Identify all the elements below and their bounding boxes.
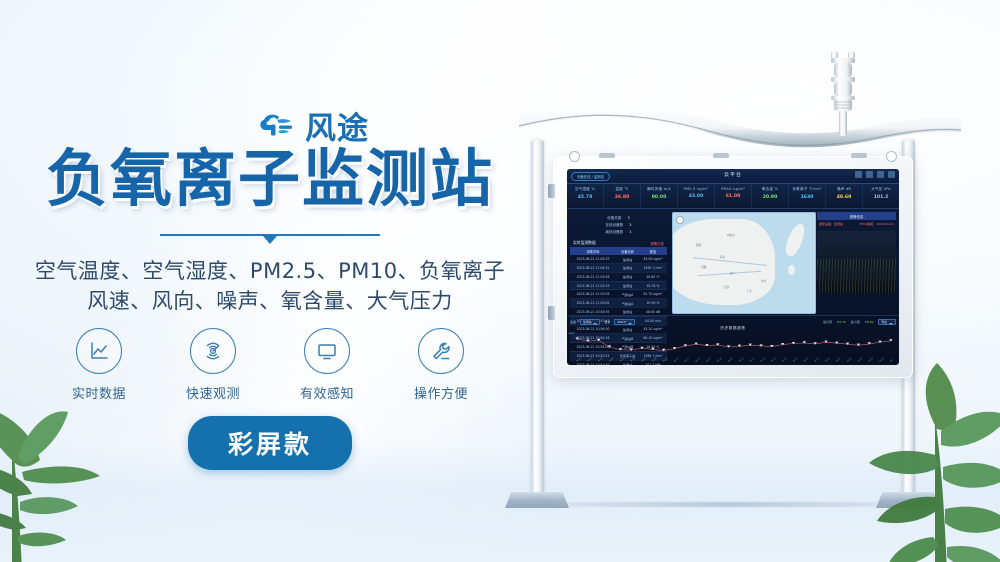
- table-row[interactable]: 2023-06-21 11:03:28监测站26.80 ℃: [570, 272, 667, 281]
- page-title: 负氧离子监测站: [0, 148, 540, 210]
- line-chart-icon: [76, 328, 122, 374]
- chart-xtick: 06-18: [760, 357, 766, 362]
- dashboard-body: 设备总数3在线设备数2离线设备数1 实时监测数据 报警记录 采集时间设备名称数值…: [567, 209, 899, 315]
- mount-tab: [713, 153, 729, 158]
- kpi-label: PM10 ug/m³: [715, 187, 751, 191]
- table-cell: 1630 个/cm³: [639, 264, 667, 273]
- table-cell: 监测站: [616, 272, 639, 281]
- dashboard-screen[interactable]: 设备在线 / 监测站 云平台 空气湿度 %45.78温度 ℃26.80瞬时风速 …: [567, 169, 899, 365]
- left-pane: 设备总数3在线设备数2离线设备数1 实时监测数据 报警记录 采集时间设备名称数值…: [567, 209, 670, 315]
- feature-label: 快速观测: [174, 383, 252, 402]
- table-row[interactable]: 2023-06-21 11:05:37监测站43.00 ug/m³: [570, 255, 667, 263]
- cloud-icon[interactable]: [866, 171, 873, 178]
- alarm-panel-header: 报警信息: [817, 212, 896, 220]
- monitor-screen-icon: [304, 328, 350, 374]
- table-cell: 监测站: [616, 281, 639, 290]
- kpi-value: 26.80: [604, 195, 640, 200]
- settings-icon[interactable]: [888, 171, 895, 178]
- chart-xtick: 06-19: [771, 357, 777, 362]
- table-cell: 监测站: [616, 255, 639, 263]
- table-row[interactable]: 2023-06-21 11:00:02气象站A20.90 %: [570, 299, 667, 308]
- chart-icon[interactable]: [877, 171, 884, 178]
- support-post-left: [531, 140, 544, 500]
- chart-legend-max: 最大值: [823, 320, 832, 324]
- table-cell: 2023-06-21 11:03:28: [570, 272, 616, 281]
- summary-value: 1: [629, 229, 631, 236]
- feature-item-effective-sensing: 有效感知: [288, 328, 366, 402]
- table-cell: 26.80 ℃: [639, 272, 667, 281]
- table-cell: 气象站A: [616, 290, 639, 299]
- kpi-label: 大气压 kPa: [863, 187, 899, 192]
- chart-stat-min: 28.10: [865, 320, 874, 324]
- device-select-label: 设备: [570, 320, 576, 324]
- hinge-icon: [548, 306, 555, 320]
- chart-xtick: 06-09: [663, 357, 669, 362]
- map-label: 青海: [720, 255, 725, 259]
- kpi-value: 61.00: [715, 194, 751, 199]
- chart-xtick: 06-13: [706, 357, 712, 362]
- dashboard-title: 云平台: [724, 171, 742, 178]
- table-cell: 45.78 %: [639, 281, 667, 290]
- table-row[interactable]: 2023-06-21 11:04:31监测站1630 个/cm³: [570, 264, 667, 273]
- kpi-card: PM2.5 ug/m³43.00: [678, 184, 715, 208]
- hanger-ring-left-icon: [569, 151, 580, 162]
- feature-label: 操作方便: [402, 383, 480, 402]
- kpi-card: 大气压 kPa101.2: [863, 184, 899, 208]
- feature-item-realtime-data: 实时数据: [60, 328, 138, 402]
- display-cabinet: 设备在线 / 监测站 云平台 空气湿度 %45.78温度 ℃26.80瞬时风速 …: [553, 156, 913, 378]
- alarm-device: 报警设备：监测站: [819, 222, 843, 226]
- table-column-header: 数值: [639, 247, 667, 255]
- chart-xtick: 06-14: [717, 357, 723, 362]
- map-label: 四川: [730, 271, 735, 275]
- kpi-value: 101.2: [863, 195, 899, 200]
- kpi-label: 氧含量 %: [752, 187, 788, 192]
- kpi-value: 1630: [789, 195, 825, 200]
- chart-toolbar: 设备 监测站 要素 PM2.5 最大值 61.70 最小值 28.10 导出: [570, 319, 896, 325]
- kpi-strip: 空气湿度 %45.78温度 ℃26.80瞬时风速 m/s00.00PM2.5 u…: [567, 184, 899, 209]
- map-label: 台湾: [761, 279, 766, 283]
- kpi-value: 43.00: [678, 194, 714, 199]
- kpi-card: 空气湿度 %45.78: [567, 184, 604, 208]
- down-triangle-divider-icon: [160, 234, 380, 236]
- chart-xtick: 06-11: [685, 358, 690, 362]
- base-plate-right: [876, 492, 940, 508]
- kpi-value: 00.00: [641, 195, 677, 200]
- map-pane[interactable]: 新疆 内蒙古 西藏 青海 四川 云南 广东 台湾: [670, 209, 816, 315]
- chart-marker: [738, 345, 741, 347]
- device-select[interactable]: 监测站: [580, 319, 600, 325]
- chart-xtick: 06-27: [858, 357, 864, 362]
- kpi-card: 瞬时风速 m/s00.00: [641, 184, 678, 208]
- table-column-header: 采集时间: [570, 247, 616, 255]
- map-label: 广东: [747, 289, 752, 293]
- chart-xtick: 06-03: [598, 357, 604, 362]
- hinge-icon: [548, 184, 555, 198]
- chart-xtick: 06-02: [587, 358, 592, 362]
- title-divider: [0, 234, 540, 236]
- chart-xtick: 06-12: [695, 358, 700, 362]
- table-caption: 实时监测数据: [573, 240, 596, 246]
- header-icon-group[interactable]: [855, 171, 895, 178]
- signal-icon[interactable]: [855, 171, 862, 178]
- china-map[interactable]: 新疆 内蒙古 西藏 青海 四川 云南 广东 台湾: [672, 212, 816, 314]
- wrench-icon: [418, 328, 464, 374]
- summary-row: 在线设备数2: [570, 222, 667, 229]
- color-screen-badge-button[interactable]: 彩屏款: [188, 416, 352, 470]
- map-label: 新疆: [696, 243, 701, 247]
- chart-title: 历史数据趋势: [720, 326, 745, 331]
- kpi-label: 空气湿度 %: [567, 187, 603, 192]
- table-cell: 43.00 ug/m³: [639, 255, 667, 263]
- kpi-label: 噪声 dB: [826, 187, 862, 192]
- chart-xtick: 06-23: [814, 357, 820, 362]
- chart-xtick: 06-20: [782, 357, 788, 362]
- summary-label: 设备总数: [607, 215, 621, 222]
- chart-xtick: 06-22: [804, 358, 809, 362]
- summary-value: 2: [629, 222, 631, 229]
- chart-line: [577, 339, 891, 350]
- chart-xtick: 06-05: [620, 357, 626, 362]
- chart-xtick: 06-25: [836, 357, 842, 362]
- dashboard-header: 设备在线 / 监测站 云平台: [567, 169, 899, 184]
- table-cell: 2023-06-21 11:01:05: [570, 290, 616, 299]
- kpi-card: PM10 ug/m³61.00: [715, 184, 752, 208]
- chart-legend-min: 最小值: [851, 320, 860, 324]
- table-cell: 监测站: [616, 264, 639, 273]
- radar-target-icon: [190, 328, 236, 374]
- chart-xtick: 06-06: [631, 357, 637, 362]
- kpi-value: 20.90: [752, 195, 788, 200]
- camera-feed[interactable]: [817, 231, 896, 293]
- map-label: 内蒙古: [727, 233, 735, 237]
- kpi-label: 温度 ℃: [604, 187, 640, 192]
- chart-stat-max: 61.70: [837, 320, 846, 324]
- copy-column: 风途 负氧离子监测站 空气温度、空气湿度、PM2.5、PM10、负氧离子 风速、…: [0, 0, 540, 562]
- factor-select[interactable]: PM2.5: [614, 319, 635, 325]
- kpi-card: 负氧离子 个/cm³1630: [789, 184, 826, 208]
- hanger-ring-right-icon: [886, 151, 897, 162]
- device-status-chip[interactable]: 设备在线 / 监测站: [571, 172, 610, 181]
- alarm-tag[interactable]: 报警记录: [650, 241, 664, 246]
- ultrasonic-weather-sensor-icon: [822, 48, 864, 140]
- wave-canopy-icon: [515, 92, 965, 154]
- kpi-label: 负氧离子 个/cm³: [789, 187, 825, 192]
- base-plate-left: [505, 492, 569, 508]
- map-zoom-control[interactable]: [676, 216, 684, 224]
- device-summary: 设备总数3在线设备数2离线设备数1: [570, 212, 667, 239]
- summary-value: 3: [627, 215, 629, 222]
- subtitle-line-1: 空气温度、空气湿度、PM2.5、PM10、负氧离子: [0, 256, 540, 286]
- badge-button-wrap: 彩屏款: [0, 416, 540, 470]
- kpi-card: 噪声 dB48.60: [826, 184, 863, 208]
- chart-stats: 最大值 61.70 最小值 28.10 导出: [823, 319, 896, 325]
- table-cell: 61.70 ug/m³: [639, 290, 667, 299]
- wind-cloud-g-logo-icon: [258, 111, 298, 141]
- mount-tab: [599, 153, 615, 158]
- chart-xtick: 06-16: [739, 357, 745, 362]
- kpi-label: PM2.5 ug/m³: [678, 187, 714, 191]
- table-row[interactable]: 2023-06-21 11:01:05气象站A61.70 ug/m³: [570, 290, 667, 299]
- summary-row: 设备总数3: [570, 215, 667, 222]
- table-caption-bar: 实时监测数据 报警记录: [570, 239, 667, 247]
- history-chart-panel: 设备 监测站 要素 PM2.5 最大值 61.70 最小值 28.10 导出 历…: [567, 315, 899, 365]
- mount-tab: [851, 153, 867, 158]
- chart-xtick: 06-04: [609, 357, 615, 362]
- summary-row: 离线设备数1: [570, 229, 667, 236]
- feature-item-fast-observation: 快速观测: [174, 328, 252, 402]
- chart-xtick: 06-17: [750, 357, 756, 362]
- table-row[interactable]: 2023-06-21 11:02:19监测站45.78 %: [570, 281, 667, 290]
- chart-xtick: 06-28: [869, 357, 875, 362]
- map-label: 云南: [724, 285, 729, 289]
- chart-xtick: 06-07: [641, 357, 647, 362]
- alarm-panel-row: 报警设备：监测站 PM10超标 · 2023-06-21: [817, 220, 896, 228]
- chart-xtick: 06-08: [652, 357, 658, 362]
- chart-xtick: 06-01: [576, 358, 581, 362]
- kpi-value: 48.60: [826, 195, 862, 200]
- table-cell: 2023-06-21 11:02:19: [570, 281, 616, 290]
- kpi-label: 瞬时风速 m/s: [641, 187, 677, 192]
- chart-xtick: 06-15: [728, 357, 734, 362]
- chart-xtick: 06-21: [793, 358, 798, 362]
- table-cell: 2023-06-21 11:05:37: [570, 255, 616, 263]
- map-label: 西藏: [701, 265, 706, 269]
- summary-label: 离线设备数: [605, 229, 623, 236]
- promo-banner: 风途 负氧离子监测站 空气温度、空气湿度、PM2.5、PM10、负氧离子 风速、…: [0, 0, 1000, 562]
- table-cell: 2023-06-21 11:00:02: [570, 299, 616, 308]
- export-button[interactable]: 导出: [878, 319, 896, 325]
- table-cell: 20.90 %: [639, 299, 667, 308]
- chart-ylabel: ug/m³: [568, 332, 575, 335]
- subtitle-block: 空气温度、空气湿度、PM2.5、PM10、负氧离子 风速、风向、噪声、氧含量、大…: [0, 256, 540, 317]
- feature-list: 实时数据 快速观测: [0, 328, 540, 402]
- right-pane: 报警信息 报警设备：监测站 PM10超标 · 2023-06-21: [816, 209, 899, 315]
- table-cell: 2023-06-21 11:04:31: [570, 264, 616, 273]
- factor-select-label: 要素: [604, 320, 610, 324]
- kpi-card: 氧含量 %20.90: [752, 184, 789, 208]
- table-column-header: 设备名称: [616, 247, 639, 255]
- feature-label: 实时数据: [60, 383, 138, 402]
- feature-item-easy-operation: 操作方便: [402, 328, 480, 402]
- chart-plot: ug/m³ 06-0106-0206-0306-0406-0506-0606-0…: [575, 334, 893, 362]
- alarm-detail: PM10超标 · 2023-06-21: [859, 222, 894, 226]
- monitoring-station: 设备在线 / 监测站 云平台 空气湿度 %45.78温度 ℃26.80瞬时风速 …: [505, 40, 975, 540]
- chart-xtick: 06-10: [674, 357, 680, 362]
- kpi-value: 45.78: [567, 195, 603, 200]
- feature-label: 有效感知: [288, 383, 366, 402]
- table-cell: 气象站A: [616, 299, 639, 308]
- chart-xtick: 06-30: [890, 357, 893, 362]
- chart-xtick: 06-24: [825, 357, 831, 362]
- chart-xtick: 06-29: [879, 357, 885, 362]
- chart-xtick: 06-26: [847, 357, 853, 362]
- kpi-card: 温度 ℃26.80: [604, 184, 641, 208]
- summary-label: 在线设备数: [605, 222, 623, 229]
- subtitle-line-2: 风速、风向、噪声、氧含量、大气压力: [0, 286, 540, 316]
